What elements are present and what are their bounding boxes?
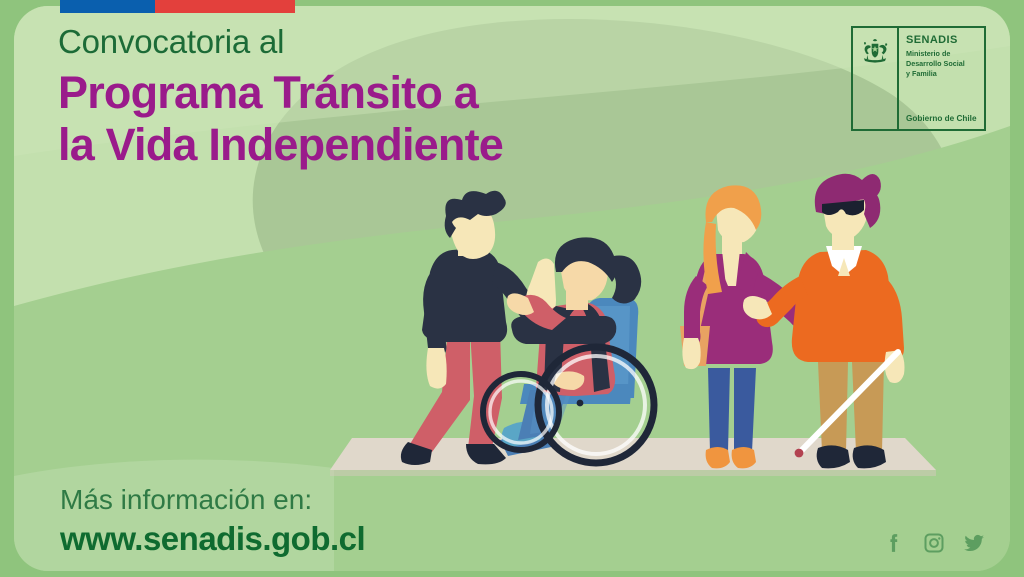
- chile-flag-bar: [60, 0, 295, 13]
- flag-bar-blue: [60, 0, 155, 13]
- senadis-logo: SENADIS Ministerio de Desarrollo Social …: [851, 26, 986, 131]
- poster-canvas: Convocatoria al Programa Tránsito a la V…: [0, 0, 1024, 577]
- website-url[interactable]: www.senadis.gob.cl: [60, 519, 365, 559]
- facebook-icon[interactable]: [882, 531, 906, 555]
- chile-coat-of-arms-icon: [858, 36, 892, 66]
- more-info-label: Más información en:: [60, 482, 365, 517]
- headline-kicker: Convocatoria al: [58, 24, 503, 60]
- logo-text-cell: SENADIS Ministerio de Desarrollo Social …: [899, 28, 984, 129]
- logo-subtitle: Ministerio de Desarrollo Social y Famili…: [906, 49, 978, 79]
- twitter-icon[interactable]: [962, 531, 986, 555]
- instagram-icon[interactable]: [922, 531, 946, 555]
- flag-bar-red: [155, 0, 295, 13]
- footer-block: Más información en: www.senadis.gob.cl: [60, 482, 365, 559]
- logo-crest-cell: [853, 28, 899, 129]
- social-links: [882, 531, 986, 555]
- logo-government: Gobierno de Chile: [906, 115, 978, 124]
- page-title: Programa Tránsito a la Vida Independient…: [58, 67, 503, 171]
- logo-name: SENADIS: [906, 35, 978, 46]
- headline-block: Convocatoria al Programa Tránsito a la V…: [58, 24, 503, 171]
